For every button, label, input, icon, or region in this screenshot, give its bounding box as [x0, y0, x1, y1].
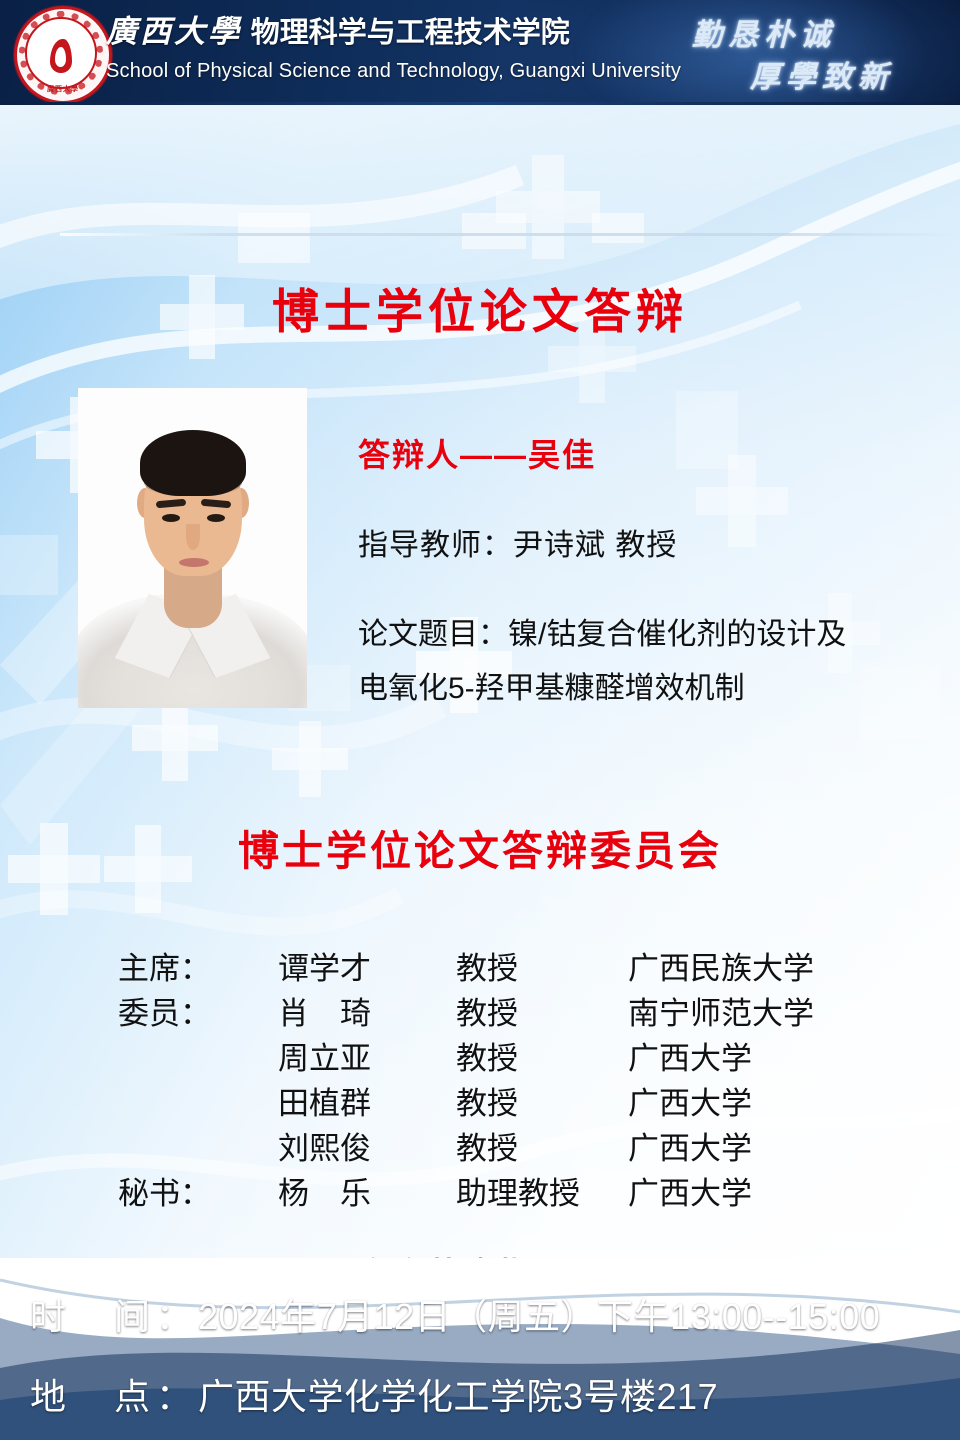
header-divider-line	[60, 233, 960, 236]
committee-name: 刘熙俊	[278, 1123, 456, 1168]
committee-role: 委员：	[118, 988, 278, 1033]
decor-plus-8	[272, 721, 348, 797]
committee-name: 谭学才	[278, 943, 456, 988]
event-place-line: 地 点：广西大学化学化工学院3号楼217	[30, 1368, 718, 1420]
header-university-name: 廣西大學	[106, 14, 242, 49]
header-band: 1928 廣西大學 廣西大學 物理科学与工程技术学院 School of Phy…	[0, 0, 960, 105]
header-title-cn: 廣西大學 物理科学与工程技术学院	[106, 14, 570, 51]
time-value: 2024年7月12日（周五）下午13:00--15:00	[198, 1296, 880, 1337]
photo-mouth	[179, 558, 209, 567]
page-title: 博士学位论文答辩	[0, 273, 960, 342]
speaker-photo	[78, 388, 307, 708]
decor-square-3	[592, 213, 644, 243]
university-seal-logo: 1928 廣西大學	[14, 6, 112, 104]
photo-eye-right	[207, 514, 225, 522]
header-school-name: 物理科学与工程技术学院	[251, 17, 570, 49]
advisor-line: 指导教师：尹诗斌 教授	[358, 520, 677, 564]
event-time-line: 时 间：2024年7月12日（周五）下午13:00--15:00	[30, 1288, 880, 1340]
university-motto: 勤恳朴诚 厚學致新	[690, 4, 940, 102]
committee-title-rank: 教授	[456, 1033, 628, 1078]
committee-name: 周立亚	[278, 1033, 456, 1078]
table-row: 田植群 教授 广西大学	[118, 1078, 898, 1123]
table-row: 周立亚 教授 广西大学	[118, 1033, 898, 1078]
committee-affiliation: 广西大学	[628, 1033, 898, 1078]
seal-text: 廣西大學	[17, 84, 109, 94]
committee-name: 田植群	[278, 1078, 456, 1123]
decor-square-4	[676, 391, 738, 469]
speaker-name-line: 答辩人——吴佳	[358, 430, 596, 476]
committee-role: 秘书：	[118, 1168, 278, 1213]
committee-role: 主席：	[118, 943, 278, 988]
seal-flame-icon	[50, 39, 72, 73]
photo-nose	[186, 524, 200, 550]
committee-name: 杨 乐	[278, 1168, 456, 1213]
footer-band: 时 间：2024年7月12日（周五）下午13:00--15:00 地 点：广西大…	[0, 1258, 960, 1440]
poster-body-background: 博士学位论文答辩 答辩人——吴佳 指导教师：尹诗斌 教授 论文题目：镍/钴复合催…	[0, 105, 960, 1258]
photo-hair	[140, 430, 246, 496]
table-row: 主席： 谭学才 教授 广西民族大学	[118, 943, 898, 988]
defense-announcement-poster: 1928 廣西大學 廣西大學 物理科学与工程技术学院 School of Phy…	[0, 0, 960, 1440]
thesis-title-block: 论文题目：镍/钴复合催化剂的设计及 电氧化5-羟甲基糠醛增效机制	[358, 608, 928, 716]
place-label: 地 点：	[30, 1376, 198, 1417]
table-row: 委员： 肖 琦 教授 南宁师范大学	[118, 988, 898, 1033]
committee-title-rank: 教授	[456, 943, 628, 988]
committee-affiliation: 广西民族大学	[628, 943, 898, 988]
committee-table: 主席： 谭学才 教授 广西民族大学 委员： 肖 琦 教授 南宁师范大学 周立亚 …	[118, 943, 898, 1213]
welcome-line: 欢迎莅临指导！	[0, 1248, 960, 1258]
committee-title-rank: 教授	[456, 988, 628, 1033]
thesis-title-line-1: 论文题目：镍/钴复合催化剂的设计及	[358, 608, 928, 662]
committee-affiliation: 广西大学	[628, 1168, 898, 1213]
committee-title: 博士学位论文答辩委员会	[0, 817, 960, 877]
decor-square-2	[462, 213, 526, 249]
committee-affiliation: 广西大学	[628, 1123, 898, 1168]
motto-line-2: 厚學致新	[750, 52, 894, 96]
committee-title-rank: 教授	[456, 1123, 628, 1168]
thesis-title-line-2: 电氧化5-羟甲基糠醛增效机制	[358, 662, 928, 716]
seal-year: 1928	[27, 77, 95, 83]
committee-affiliation: 广西大学	[628, 1078, 898, 1123]
header-title-en: School of Physical Science and Technolog…	[106, 58, 681, 84]
committee-title-rank: 助理教授	[456, 1168, 628, 1213]
table-row: 刘熙俊 教授 广西大学	[118, 1123, 898, 1168]
seal-inner-ring: 1928	[25, 17, 97, 89]
motto-line-1: 勤恳朴诚	[692, 10, 836, 54]
place-value: 广西大学化学化工学院3号楼217	[198, 1376, 718, 1417]
committee-affiliation: 南宁师范大学	[628, 988, 898, 1033]
committee-name: 肖 琦	[278, 988, 456, 1033]
time-label: 时 间：	[30, 1296, 198, 1337]
table-row: 秘书： 杨 乐 助理教授 广西大学	[118, 1168, 898, 1213]
decor-square-1	[238, 213, 310, 263]
photo-eye-left	[162, 514, 180, 522]
decor-square-5	[0, 535, 58, 595]
committee-title-rank: 教授	[456, 1078, 628, 1123]
